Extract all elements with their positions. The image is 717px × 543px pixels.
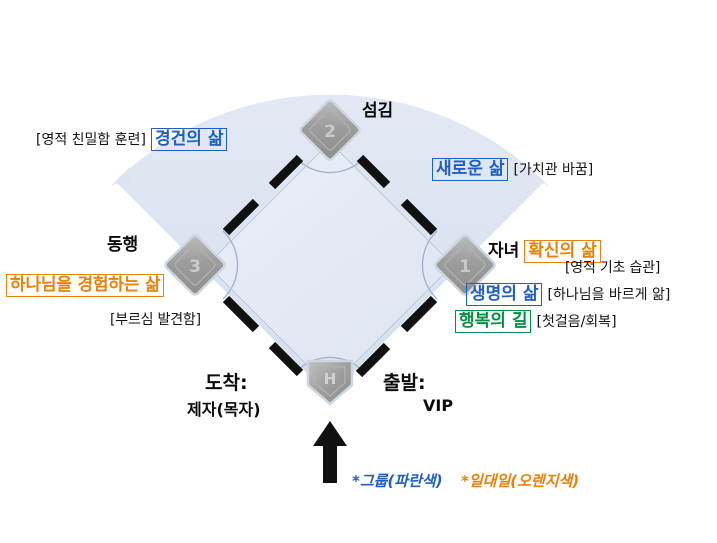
station-descriptor-second-to-first: [가치관 바꿈] xyxy=(513,159,593,179)
course-badge-saengmyeong[interactable]: 생명의 삶 xyxy=(466,283,542,306)
entry-arrow xyxy=(313,421,347,483)
footnote-legend: *그룹(파란색) *일대일(오렌지색) xyxy=(352,470,579,491)
station-row-first: 자녀 확신의 삶 xyxy=(488,236,601,263)
station-descriptor-second: [영적 친밀함 훈련] xyxy=(36,129,146,149)
course-badge-haengbok[interactable]: 행복의 길 xyxy=(455,310,531,333)
station-row-second: [영적 친밀함 훈련] 경건의 삶 xyxy=(36,128,227,151)
station-heading-third: 동행 xyxy=(107,237,138,255)
diagram-canvas: 2 1 3 H 섬김 [영적 xyxy=(0,0,717,543)
station-descriptor-first-lower-a: [하나님을 바르게 앎] xyxy=(547,284,670,304)
station-descriptor-first: [영적 기초 습관] xyxy=(565,261,660,276)
start-value: VIP xyxy=(423,396,453,415)
arrive-value: 제자(목자) xyxy=(187,396,261,420)
station-row-second-to-first: 새로운 삶 [가치관 바꿈] xyxy=(432,158,593,181)
base-home: H xyxy=(308,361,352,404)
station-descriptor-first-lower-b: [첫걸음/회복] xyxy=(536,311,616,331)
course-badge-saeroun[interactable]: 새로운 삶 xyxy=(432,158,508,181)
arrive-block: 도착: 제자(목자) xyxy=(205,368,261,420)
arrive-label: 도착: xyxy=(205,368,261,395)
footnote-one-on-one: *일대일(오렌지색) xyxy=(461,472,579,490)
station-descriptor-third: [부르심 발견함] xyxy=(110,313,201,328)
start-label: 출발: xyxy=(383,368,453,395)
course-badge-gyeongeon[interactable]: 경건의 삶 xyxy=(151,128,227,151)
svg-text:H: H xyxy=(324,370,337,388)
course-badge-hananim-row: 하나님을 경험하는 삶 xyxy=(6,274,164,297)
svg-text:3: 3 xyxy=(189,257,201,277)
svg-text:1: 1 xyxy=(459,257,471,277)
svg-text:2: 2 xyxy=(324,122,336,142)
station-row-first-lower-a: 생명의 삶 [하나님을 바르게 앎] xyxy=(466,283,670,306)
footnote-group: *그룹(파란색) xyxy=(352,472,443,490)
start-block: 출발: VIP xyxy=(383,368,453,415)
station-heading-first: 자녀 xyxy=(488,236,519,261)
station-row-first-lower-b: 행복의 길 [첫걸음/회복] xyxy=(455,310,617,333)
course-badge-hananim[interactable]: 하나님을 경험하는 삶 xyxy=(6,274,164,297)
station-heading-second: 섬김 xyxy=(362,103,393,121)
